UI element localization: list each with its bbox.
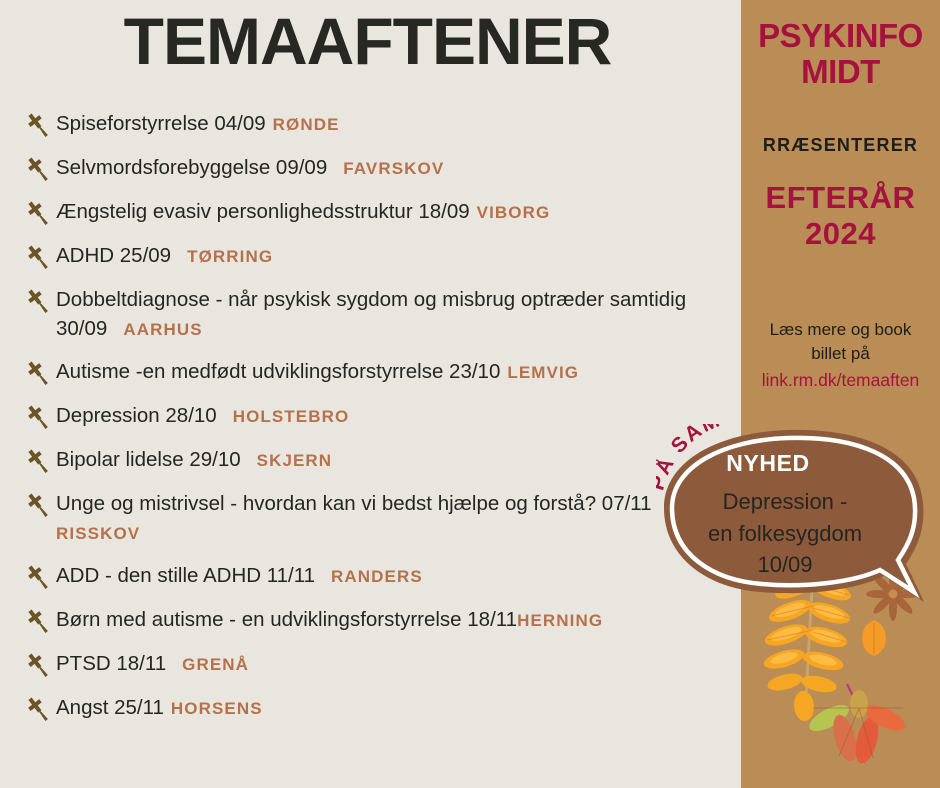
list-item[interactable]: Autisme -en medfødt udviklingsforstyrrel… (22, 356, 742, 387)
list-item[interactable]: Unge og mistrivsel - hvordan kan vi beds… (22, 488, 742, 547)
program-list: Spiseforstyrrelse 04/09RØNDE Selvmordsfo… (22, 108, 742, 736)
list-item-text: ADD - den stille ADHD 11/11RANDERS (56, 560, 423, 590)
pushpin-icon (22, 401, 56, 431)
list-item-text: Angst 25/11HORSENS (56, 692, 263, 722)
poster-canvas: PSYKINFO MIDT RRÆSENTERER EFTERÅR 2024 L… (0, 0, 940, 788)
list-item[interactable]: Spiseforstyrrelse 04/09RØNDE (22, 108, 742, 139)
list-item-title: Angst 25/11 (56, 696, 164, 719)
list-item-location: TØRRING (187, 247, 273, 266)
list-item[interactable]: Selvmordsforebyggelse 09/09FAVRSKOV (22, 152, 742, 183)
list-item-location: AARHUS (123, 320, 202, 339)
list-item-text: Depression 28/10HOLSTEBRO (56, 400, 349, 430)
list-item-location: RISSKOV (56, 524, 140, 543)
list-item[interactable]: ADHD 25/09TØRRING (22, 240, 742, 271)
booking-info: Læs mere og book billet på link.rm.dk/te… (745, 318, 936, 393)
booking-link[interactable]: link.rm.dk/temaaften (745, 368, 936, 393)
news-speech-bubble[interactable]: NYHED PÅ SAMSØ Depression - en folkesygd… (656, 424, 940, 632)
list-item[interactable]: Dobbeltdiagnose - når psykisk sygdom og … (22, 284, 742, 343)
list-item[interactable]: ADD - den stille ADHD 11/11RANDERS (22, 560, 742, 591)
pushpin-icon (22, 285, 56, 315)
list-item-location: RØNDE (273, 115, 340, 134)
list-item-text: Selvmordsforebyggelse 09/09FAVRSKOV (56, 152, 444, 182)
pushpin-icon (22, 649, 56, 679)
season-line-2: 2024 (741, 216, 940, 252)
booking-line-2: billet på (811, 344, 870, 363)
page-title: TEMAAFTENER (0, 8, 735, 74)
list-item[interactable]: Bipolar lidelse 29/10SKJERN (22, 444, 742, 475)
list-item-text: Ængstelig evasiv personlighedsstruktur 1… (56, 196, 550, 226)
list-item[interactable]: Depression 28/10HOLSTEBRO (22, 400, 742, 431)
pushpin-icon (22, 357, 56, 387)
list-item-title: PTSD 18/11 (56, 652, 166, 675)
list-item-location: VIBORG (477, 203, 551, 222)
pushpin-icon (22, 153, 56, 183)
speech-bubble-shape (656, 424, 940, 632)
list-item[interactable]: Angst 25/11HORSENS (22, 692, 742, 723)
list-item-title: Autisme -en medfødt udviklingsforstyrrel… (56, 360, 500, 383)
list-item-text: PTSD 18/11GRENÅ (56, 648, 249, 678)
list-item-location: GRENÅ (182, 655, 249, 674)
pushpin-icon (22, 241, 56, 271)
pushpin-icon (22, 109, 56, 139)
list-item-title: Børn med autisme - en udviklingsforstyrr… (56, 608, 517, 631)
brand-line-1: PSYKINFO (741, 18, 940, 54)
pushpin-icon (22, 489, 56, 519)
list-item-title: Selvmordsforebyggelse 09/09 (56, 156, 327, 179)
list-item[interactable]: PTSD 18/11GRENÅ (22, 648, 742, 679)
list-item-title: Ængstelig evasiv personlighedsstruktur 1… (56, 200, 470, 223)
list-item-text: ADHD 25/09TØRRING (56, 240, 273, 270)
list-item-location: RANDERS (331, 567, 423, 586)
list-item-location: HERNING (517, 611, 603, 630)
list-item-title: Bipolar lidelse 29/10 (56, 448, 241, 471)
pushpin-icon (22, 197, 56, 227)
list-item-title: Depression 28/10 (56, 404, 217, 427)
list-item[interactable]: Børn med autisme - en udviklingsforstyrr… (22, 604, 742, 635)
list-item-text: Dobbeltdiagnose - når psykisk sygdom og … (56, 284, 742, 343)
pushpin-icon (22, 445, 56, 475)
presents-label: RRÆSENTERER (741, 135, 940, 156)
list-item-title: ADD - den stille ADHD 11/11 (56, 564, 315, 587)
list-item-location: FAVRSKOV (343, 159, 444, 178)
list-item-location: LEMVIG (507, 363, 579, 382)
list-item-location: HORSENS (171, 699, 263, 718)
sidebar-panel: PSYKINFO MIDT RRÆSENTERER EFTERÅR 2024 L… (741, 0, 940, 788)
pushpin-icon (22, 693, 56, 723)
list-item-title: Spiseforstyrrelse 04/09 (56, 112, 266, 135)
list-item-location: HOLSTEBRO (233, 407, 350, 426)
booking-line-1: Læs mere og book (770, 320, 912, 339)
list-item-text: Børn med autisme - en udviklingsforstyrr… (56, 604, 603, 634)
list-item-location: SKJERN (257, 451, 333, 470)
list-item[interactable]: Ængstelig evasiv personlighedsstruktur 1… (22, 196, 742, 227)
season-title: EFTERÅR 2024 (741, 180, 940, 252)
pushpin-icon (22, 605, 56, 635)
pushpin-icon (22, 561, 56, 591)
list-item-title: ADHD 25/09 (56, 244, 171, 267)
list-item-text: Unge og mistrivsel - hvordan kan vi beds… (56, 488, 742, 547)
list-item-text: Spiseforstyrrelse 04/09RØNDE (56, 108, 340, 138)
brand-title: PSYKINFO MIDT (741, 18, 940, 89)
brand-line-2: MIDT (741, 54, 940, 90)
list-item-text: Autisme -en medfødt udviklingsforstyrrel… (56, 356, 579, 386)
list-item-title: Unge og mistrivsel - hvordan kan vi beds… (56, 492, 652, 515)
list-item-text: Bipolar lidelse 29/10SKJERN (56, 444, 332, 474)
virginia-creeper-leaf-icon (805, 684, 908, 766)
season-line-1: EFTERÅR (741, 180, 940, 216)
